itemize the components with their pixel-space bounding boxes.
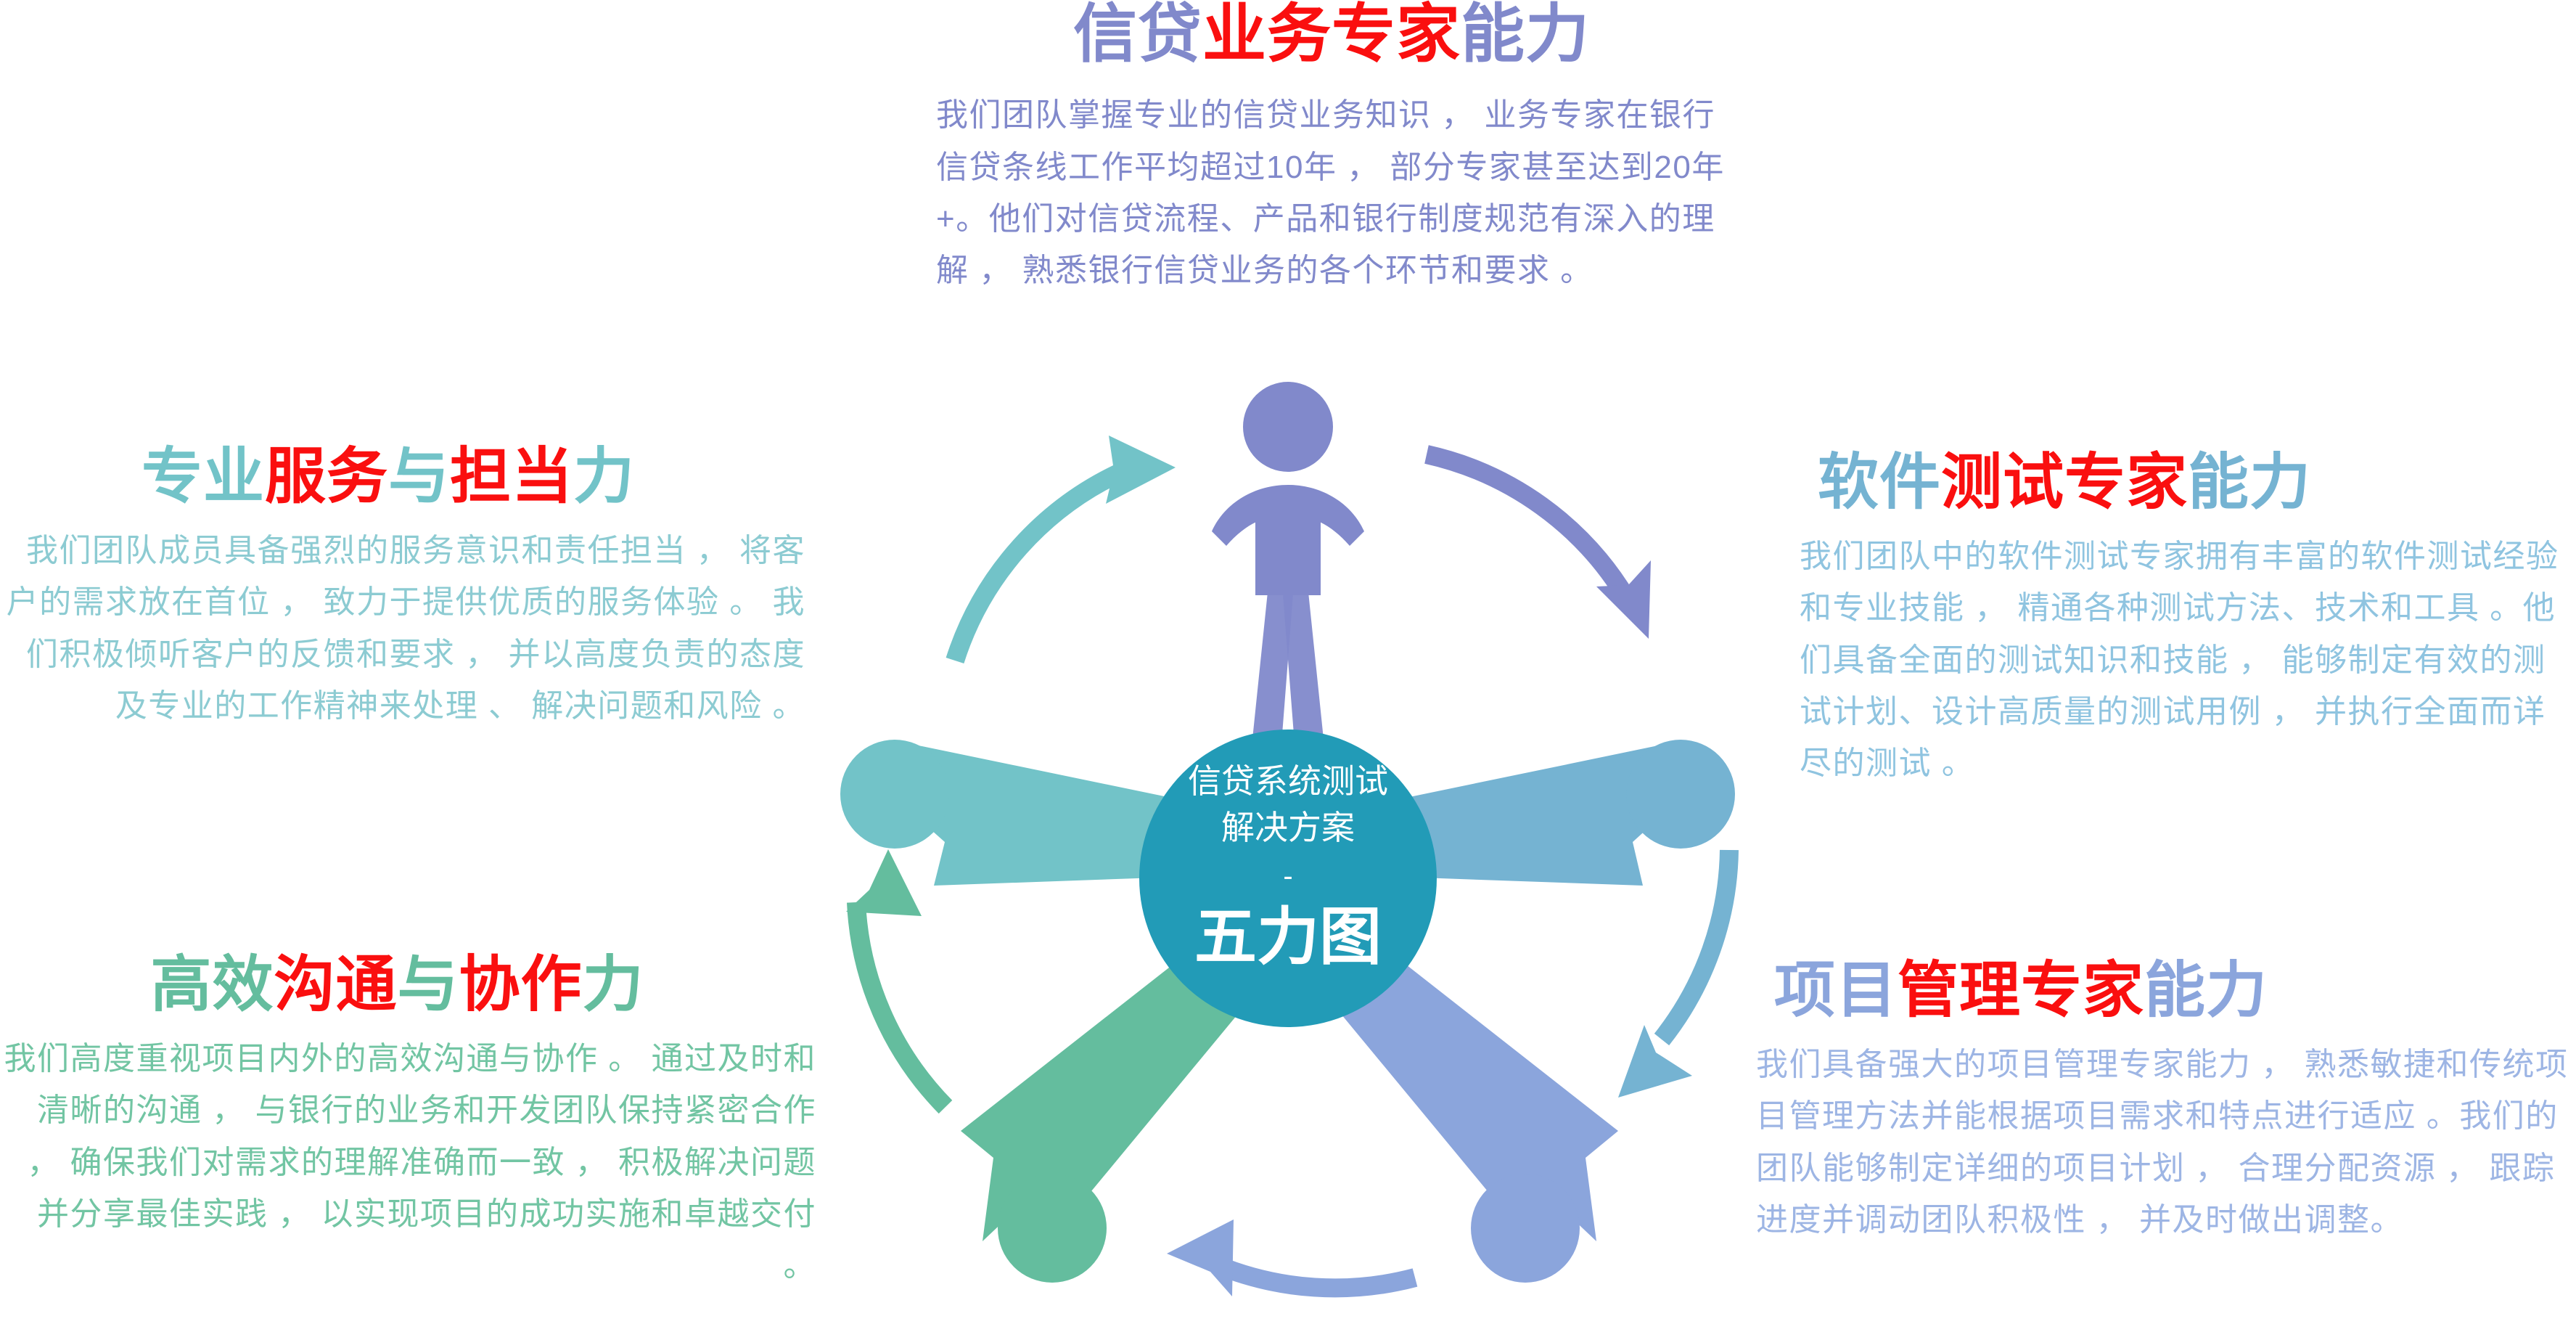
heading-seg-1: 沟通 (274, 950, 397, 1018)
panel-software-testing-expertise: 软件测试专家能力 我们团队中的软件测试专家拥有丰富的软件测试经验和专业技能 ， … (1800, 450, 2576, 789)
heading-seg-0: 信贷 (1073, 0, 1202, 70)
person-head-icon (1243, 382, 1333, 472)
body-credit-expertise: 我们团队掌握专业的信贷业务知识 ， 业务专家在银行信贷条线工作平均超过10年 ，… (918, 89, 1745, 296)
heading-seg-0: 高效 (150, 950, 274, 1018)
heading-seg-2: 能力 (1461, 0, 1590, 70)
ring-arrow-top-right (1427, 454, 1651, 639)
heading-seg-2: 与 (388, 442, 450, 510)
node-bottom-right-circle-icon (1471, 1174, 1580, 1283)
ring-arrow-left (846, 849, 946, 1107)
panel-project-management-expertise: 项目管理专家能力 我们具备强大的项目管理专家能力 ， 熟悉敏捷和传统项目管理方法… (1756, 958, 2576, 1246)
panel-communication-collaboration: 高效沟通与协作力 我们高度重视项目内外的高效沟通与协作 。 通过及时和清晰的沟通… (0, 952, 816, 1291)
node-bottom-left-circle-icon (998, 1174, 1107, 1283)
heading-communication-collaboration: 高效沟通与协作力 (0, 952, 816, 1017)
ring-arrow-bottom (1167, 1219, 1415, 1296)
body-service-responsibility: 我们团队成员具备强烈的服务意识和责任担当 ， 将客户的需求放在首位 ， 致力于提… (0, 525, 805, 732)
node-left-circle-icon (840, 740, 949, 849)
heading-seg-3: 协作 (459, 950, 583, 1018)
body-project-management-expertise: 我们具备强大的项目管理专家能力 ， 熟悉敏捷和传统项目管理方法并能根据项目需求和… (1756, 1039, 2576, 1246)
center-label-dash: - (1283, 860, 1292, 892)
heading-seg-4: 力 (573, 442, 635, 510)
heading-software-testing-expertise: 软件测试专家能力 (1800, 450, 2576, 515)
heading-seg-1: 管理专家 (1898, 956, 2144, 1024)
center-label-line1: 信贷系统测试 (1188, 762, 1388, 800)
heading-credit-expertise: 信贷业务专家能力 (918, 0, 1745, 68)
heading-seg-4: 力 (583, 950, 644, 1018)
heading-seg-2: 能力 (2188, 448, 2311, 516)
heading-seg-1: 服务 (265, 442, 388, 510)
heading-service-responsibility: 专业服务与担当力 (0, 444, 805, 509)
heading-seg-3: 担当 (450, 442, 573, 510)
center-label-line2: 解决方案 (1221, 809, 1355, 846)
node-right-circle-icon (1626, 740, 1735, 849)
ring-arrow-top-left (955, 436, 1176, 661)
heading-seg-2: 与 (397, 950, 459, 1018)
heading-seg-0: 专业 (141, 442, 265, 510)
heading-seg-1: 业务专家 (1202, 0, 1461, 70)
heading-seg-1: 测试专家 (1941, 448, 2188, 516)
body-communication-collaboration: 我们高度重视项目内外的高效沟通与协作 。 通过及时和清晰的沟通 ， 与银行的业务… (0, 1033, 816, 1291)
heading-seg-0: 软件 (1818, 448, 1941, 516)
panel-credit-expertise: 信贷业务专家能力 我们团队掌握专业的信贷业务知识 ， 业务专家在银行信贷条线工作… (918, 0, 1745, 296)
center-label-title: 五力图 (1194, 902, 1382, 972)
ring-arrow-right (1618, 850, 1729, 1098)
five-forces-diagram: 信贷系统测试 解决方案 - 五力图 (813, 377, 1763, 1324)
heading-seg-0: 项目 (1774, 956, 1898, 1024)
body-software-testing-expertise: 我们团队中的软件测试专家拥有丰富的软件测试经验和专业技能 ， 精通各种测试方法、… (1800, 531, 2576, 789)
heading-seg-2: 能力 (2144, 956, 2268, 1024)
heading-project-management-expertise: 项目管理专家能力 (1756, 958, 2576, 1023)
panel-service-responsibility: 专业服务与担当力 我们团队成员具备强烈的服务意识和责任担当 ， 将客户的需求放在… (0, 444, 805, 732)
person-icon (1212, 382, 1364, 781)
